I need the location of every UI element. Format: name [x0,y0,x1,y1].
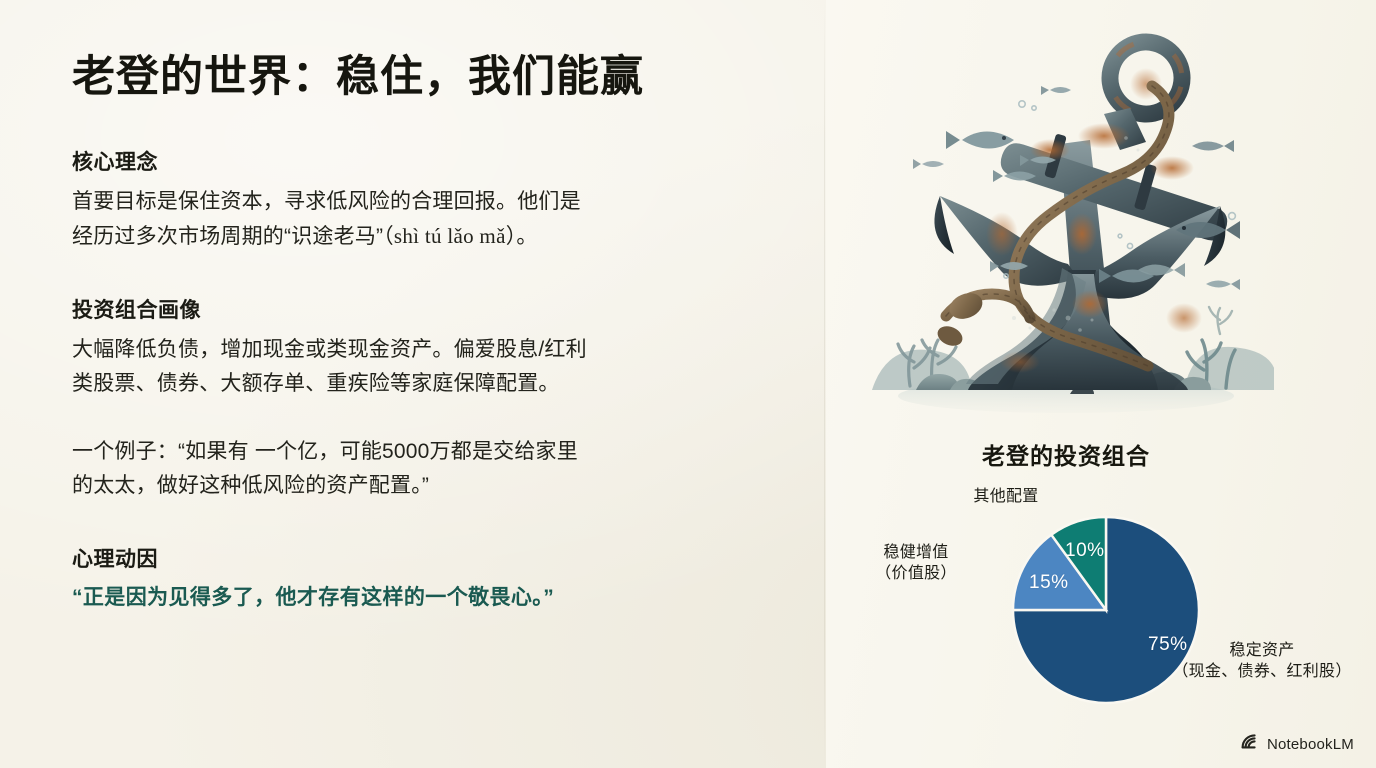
pie-chart-svg [826,474,1376,734]
pie-label-other-allocation-line1: 其他配置 [973,488,1038,505]
section-portfolio-profile: 投资组合画像 大幅降低负债，增加现金或类现金资产。偏爱股息/红利 类股票、债券、… [72,294,712,401]
section-body-core-philosophy: 首要目标是保住资本，寻求低风险的合理回报。他们是 经历过多次市场周期的“识途老马… [72,185,712,254]
section-body-portfolio-profile: 大幅降低负债，增加现金或类现金资产。偏爱股息/红利 类股票、债券、大额存单、重疾… [72,333,712,401]
example-quote-text: 一个例子：“如果有 一个亿，可能5000万都是交给家里 的太太，做好这种低风险的… [72,435,712,503]
pie-label-stable-assets-line1: 稳定资产 [1229,642,1294,659]
portfolio-pie-chart: 75% 15% 10% 其他配置 稳健增值 （价值股） 稳定资产 （现金、债券、… [826,474,1376,734]
section-core-philosophy: 核心理念 首要目标是保住资本，寻求低风险的合理回报。他们是 经历过多次市场周期的… [72,146,712,254]
pie-value-steady-growth: 15% [1029,572,1069,594]
section-heading-core-philosophy: 核心理念 [72,146,712,176]
portfolio-profile-line-1: 大幅降低负债，增加现金或类现金资产。偏爱股息/红利 [72,338,587,361]
pie-label-steady-growth-line2: （价值股） [875,565,957,582]
section-psychological-motivation: 心理动因 “正是因为见得多了，他才存有这样的一个敬畏心。” [72,543,712,615]
anchor-illustration [854,18,1274,418]
example-quote-block: 一个例子：“如果有 一个亿，可能5000万都是交给家里 的太太，做好这种低风险的… [72,435,712,503]
pie-label-steady-growth: 稳健增值 （价值股） [862,542,970,585]
notebooklm-logo-icon [1241,734,1260,754]
example-quote-line-2: 的太太，做好这种低风险的资产配置。” [72,474,429,497]
pie-label-stable-assets-line2: （现金、债券、红利股） [1172,663,1351,680]
brand-footer: NotebookLM [1241,734,1354,754]
left-content-column: 老登的世界：稳住，我们能赢 核心理念 首要目标是保住资本，寻求低风险的合理回报。… [72,52,712,641]
pie-label-stable-assets: 稳定资产 （现金、债券、红利股） [1162,640,1362,683]
column-divider [824,0,825,768]
example-quote-line-1: 一个例子：“如果有 一个亿，可能5000万都是交给家里 [72,440,578,463]
chart-title: 老登的投资组合 [826,437,1306,471]
core-philosophy-line-1: 首要目标是保住资本，寻求低风险的合理回报。他们是 [72,190,581,213]
pie-value-other-allocation: 10% [1065,540,1105,562]
page-title: 老登的世界：稳住，我们能赢 [72,52,712,104]
core-philosophy-line-2-post: ）。 [506,225,538,248]
portfolio-profile-line-2: 类股票、债券、大额存单、重疾险等家庭保障配置。 [72,372,560,395]
pie-label-other-allocation: 其他配置 [946,486,1066,507]
pie-label-steady-growth-line1: 稳健增值 [883,544,948,561]
section-heading-psychological-motivation: 心理动因 [72,543,712,573]
highlighted-pull-quote: “正是因为见得多了，他才存有这样的一个敬畏心。” [72,582,712,615]
slide-root: 老登的世界：稳住，我们能赢 核心理念 首要目标是保住资本，寻求低风险的合理回报。… [0,0,1376,768]
section-heading-portfolio-profile: 投资组合画像 [72,294,712,324]
core-philosophy-line-2-pre: 经历过多次市场周期的“识途老马”（ [72,225,394,248]
brand-name: NotebookLM [1267,736,1354,753]
core-philosophy-pinyin: shì tú lǎo mǎ [394,224,506,248]
